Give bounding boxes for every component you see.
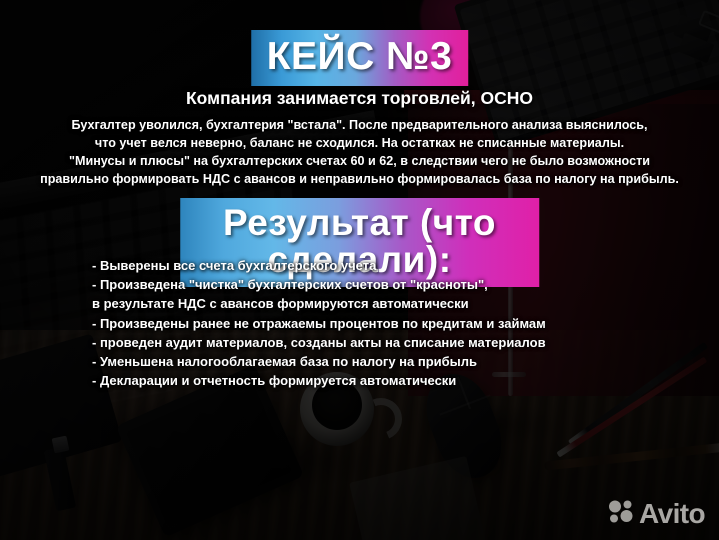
avito-wordmark: Avito bbox=[639, 500, 705, 528]
bullet-line: - Уменьшена налогооблагаемая база по нал… bbox=[92, 352, 546, 371]
bullet-line: - Декларации и отчетность формируется ав… bbox=[92, 371, 546, 390]
bullet-line: - Выверены все счета бухгалтерского учет… bbox=[92, 256, 546, 275]
bullet-line: - Произведены ранее не отражаемы процент… bbox=[92, 314, 546, 333]
paragraph-line: правильно формировать НДС с авансов и не… bbox=[0, 170, 719, 188]
paragraph-line: что учет велся неверно, баланс не сходил… bbox=[0, 134, 719, 152]
company-subtitle: Компания занимается торговлей, ОСНО bbox=[0, 88, 719, 109]
result-bullet-list: - Выверены все счета бухгалтерского учет… bbox=[92, 256, 546, 390]
promo-poster: КЕЙС №3 Компания занимается торговлей, О… bbox=[0, 0, 719, 540]
bullet-line: в результате НДС с авансов формируются а… bbox=[92, 294, 546, 313]
avito-watermark: Avito bbox=[608, 499, 705, 528]
paragraph-line: "Минусы и плюсы" на бухгалтерских счетах… bbox=[0, 152, 719, 170]
bullet-line: - проведен аудит материалов, созданы акт… bbox=[92, 333, 546, 352]
paragraph-line: Бухгалтер уволился, бухгалтерия "встала"… bbox=[0, 116, 719, 134]
avito-logo-icon bbox=[608, 499, 634, 528]
case-description-paragraph: Бухгалтер уволился, бухгалтерия "встала"… bbox=[0, 116, 719, 188]
bullet-line: - Произведена "чистка" бухгалтерских сче… bbox=[92, 275, 546, 294]
case-title-banner: КЕЙС №3 bbox=[251, 30, 469, 86]
poster-content: КЕЙС №3 Компания занимается торговлей, О… bbox=[0, 0, 719, 540]
